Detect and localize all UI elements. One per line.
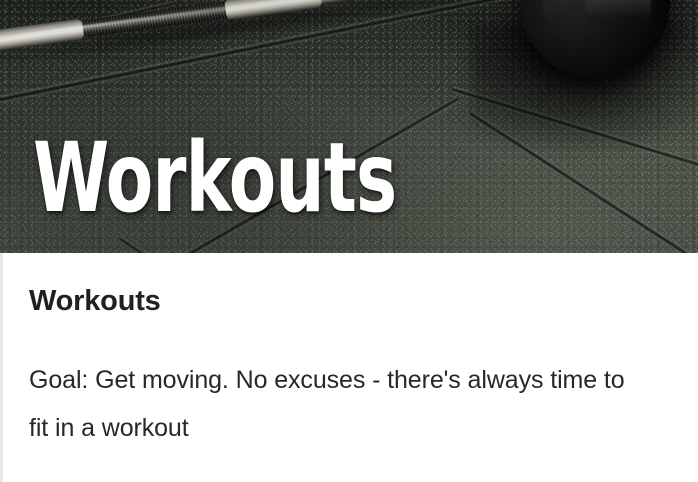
workout-info-card: Workouts Goal: Get moving. No excuses - … [0,253,698,482]
hero-banner: Workouts [0,0,698,253]
page-title: Workouts [29,286,161,318]
hero-overlay-title: Workouts [33,138,396,219]
workouts-page: Workouts Workouts Goal: Get moving. No e… [0,0,698,482]
page-description: Goal: Get moving. No excuses - there's a… [29,356,629,452]
